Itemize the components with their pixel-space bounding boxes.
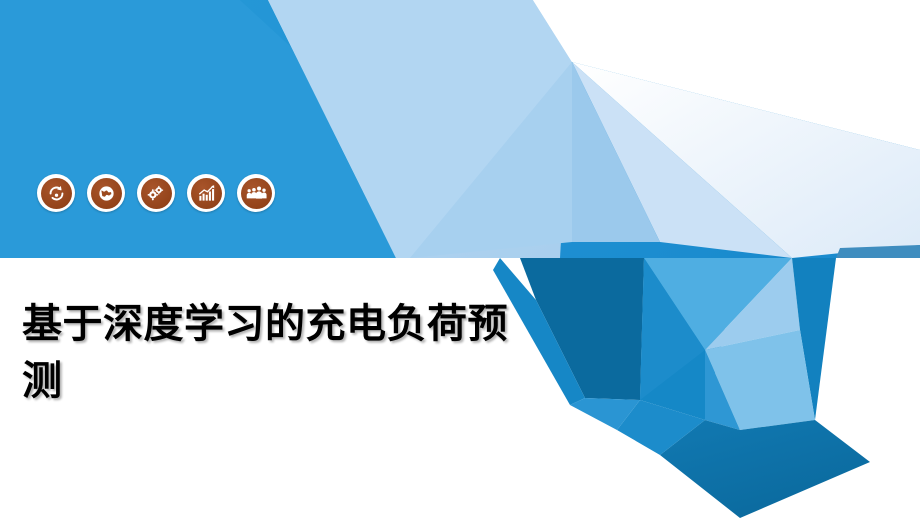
gears-icon [141, 178, 172, 209]
recycle-arrow-icon [41, 178, 72, 209]
presentation-slide: 数智创新 变革未来 [0, 0, 920, 518]
slide-tagline: 数智创新 变革未来 [700, 27, 898, 49]
icon-badge-gears[interactable] [137, 174, 175, 212]
icon-badge-bar-chart[interactable] [187, 174, 225, 212]
icon-badge-recycle[interactable] [37, 174, 75, 212]
background-polygon-graphic [0, 0, 920, 518]
bar-chart-growth-icon [191, 178, 222, 209]
globe-icon [91, 178, 122, 209]
poly-bottom-ramp [660, 420, 870, 518]
page-title: 基于深度学习的充电负荷预测 [22, 296, 522, 410]
icon-badge-globe[interactable] [87, 174, 125, 212]
icon-badge-people[interactable] [237, 174, 275, 212]
icon-row [37, 174, 275, 212]
people-group-icon [241, 178, 272, 209]
